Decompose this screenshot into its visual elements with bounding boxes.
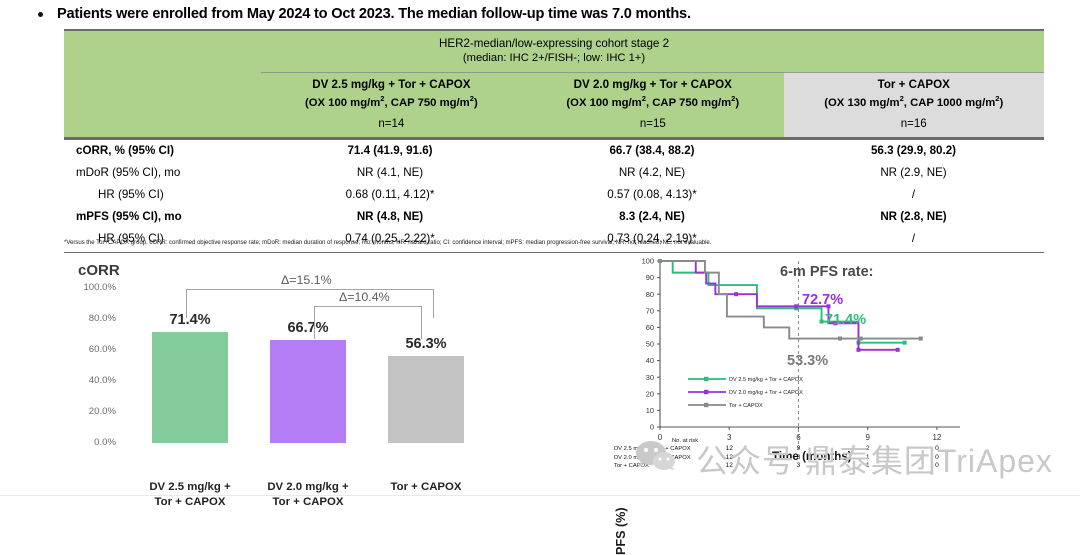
km-annotation: 6-m PFS rate:: [780, 264, 873, 280]
risk-table-title: No. at risk: [672, 438, 698, 444]
delta-bracket: [314, 306, 422, 339]
col-control-dose-suffix: ): [1000, 97, 1004, 109]
col-dv25-dose: (OX 100 mg/m2, CAP 750 mg/m2): [265, 92, 518, 110]
km-ytick-label: 80: [646, 290, 654, 299]
col-control-n: n=16: [788, 117, 1040, 131]
bar-category-label: Tor + CAPOX: [367, 480, 485, 495]
bar-ytick-label: 60.0%: [64, 344, 116, 355]
risk-value: 1: [861, 462, 875, 469]
col-dv25-dose-prefix: (OX 100 mg/m: [305, 97, 380, 109]
km-xtick-label: 9: [865, 433, 870, 442]
col-control-name: Tor + CAPOX: [788, 78, 1040, 92]
km-censor-marker: [896, 348, 900, 352]
row-label: cORR, % (95% CI): [64, 144, 259, 157]
row-value-dv20: 8.3 (2.4, NE): [521, 210, 783, 223]
km-x-axis-label: Time (months): [772, 450, 852, 463]
headline-bullet-row: Patients were enrolled from May 2024 to …: [38, 2, 1058, 26]
km-ytick-label: 50: [646, 340, 654, 349]
row-value-dv25: NR (4.8, NE): [259, 210, 521, 223]
column-header-blank: [64, 72, 261, 137]
risk-row-label: Tor + CAPOX: [614, 463, 649, 469]
col-dv25-name: DV 2.5 mg/kg + Tor + CAPOX: [265, 78, 518, 92]
bar-chart-title: cORR: [78, 262, 120, 279]
row-value-dv25: NR (4.1, NE): [259, 166, 521, 179]
row-label: mDoR (95% CI), mo: [64, 166, 259, 179]
km-ytick-label: 70: [646, 306, 654, 315]
risk-value: 15: [653, 454, 667, 461]
km-censor-marker: [820, 320, 824, 324]
col-dv20-name: DV 2.0 mg/kg + Tor + CAPOX: [526, 78, 779, 92]
row-value-control: NR (2.8, NE): [783, 210, 1044, 223]
bar-ytick-label: 100.0%: [64, 282, 116, 293]
table-row: mPFS (95% CI), mo NR (4.8, NE) 8.3 (2.4,…: [64, 206, 1044, 228]
km-ytick-label: 40: [646, 356, 654, 365]
cohort-header-line2: (median: IHC 2+/FISH-; low: IHC 1+): [64, 51, 1044, 65]
row-value-dv20: 0.57 (0.08, 4.13)*: [521, 188, 783, 201]
km-ytick-label: 60: [646, 323, 654, 332]
km-ytick-label: 30: [646, 373, 654, 382]
col-control-dose: (OX 130 mg/m2, CAP 1000 mg/m2): [788, 92, 1040, 110]
headline-text: Patients were enrolled from May 2024 to …: [57, 6, 691, 22]
km-ytick-label: 10: [646, 406, 654, 415]
km-ytick-label: 0: [650, 423, 654, 432]
col-dv20-dose-mid: , CAP 750 mg/m: [646, 97, 731, 109]
col-control-dose-prefix: (OX 130 mg/m: [824, 97, 899, 109]
table-bottom-rule: [64, 252, 1044, 254]
col-dv20-dose-suffix: ): [735, 97, 739, 109]
row-value-control: 56.3 (29.9, 80.2): [783, 144, 1044, 157]
risk-value: 16: [653, 462, 667, 469]
col-dv25-n: n=14: [265, 117, 518, 131]
risk-value: 1: [861, 454, 875, 461]
row-label: HR (95% CI): [64, 188, 259, 201]
km-censor-marker: [859, 337, 863, 341]
risk-value: 12: [722, 454, 736, 461]
row-value-dv25: 0.68 (0.11, 4.12)*: [259, 188, 521, 201]
km-annotation: 71.4%: [825, 312, 866, 328]
risk-value: 0: [930, 462, 944, 469]
table-row: cORR, % (95% CI) 71.4 (41.9, 91.6) 66.7 …: [64, 140, 1044, 162]
km-xtick-label: 3: [727, 433, 732, 442]
table-row: mDoR (95% CI), mo NR (4.1, NE) NR (4.2, …: [64, 162, 1044, 184]
km-xtick-label: 12: [932, 433, 941, 442]
cohort-header-line1: HER2-median/low-expressing cohort stage …: [64, 37, 1044, 51]
bar-ytick-label: 80.0%: [64, 313, 116, 324]
km-censor-marker: [838, 337, 842, 341]
column-header-dv20: DV 2.0 mg/kg + Tor + CAPOX (OX 100 mg/m2…: [522, 72, 783, 137]
table-row: HR (95% CI) 0.68 (0.11, 4.12)* 0.57 (0.0…: [64, 184, 1044, 206]
column-header-dv25: DV 2.5 mg/kg + Tor + CAPOX (OX 100 mg/m2…: [261, 72, 522, 137]
risk-value: 2: [861, 445, 875, 452]
col-dv20-dose: (OX 100 mg/m2, CAP 750 mg/m2): [526, 92, 779, 110]
corr-bar-chart: cORR 100.0%80.0%60.0%40.0%20.0%0.0% 71.4…: [34, 258, 484, 496]
km-xtick-label: 0: [658, 433, 663, 442]
km-censor-marker: [658, 259, 662, 263]
bar-ytick-label: 0.0%: [64, 437, 116, 448]
km-y-axis-label: PFS (%): [614, 507, 628, 555]
risk-value: 14: [653, 445, 667, 452]
row-label: mPFS (95% CI), mo: [64, 210, 259, 223]
km-censor-marker: [734, 292, 738, 296]
column-header-control: Tor + CAPOX (OX 130 mg/m2, CAP 1000 mg/m…: [784, 72, 1044, 137]
bar-rect: [270, 340, 346, 443]
risk-value: 12: [722, 445, 736, 452]
row-value-control: /: [783, 188, 1044, 201]
km-legend-label: DV 2.5 mg/kg + Tor + CAPOX: [729, 377, 803, 383]
bar-ytick-label: 40.0%: [64, 375, 116, 386]
risk-value: 3: [791, 462, 805, 469]
results-table: HER2-median/low-expressing cohort stage …: [64, 29, 1044, 253]
col-dv25-dose-mid: , CAP 750 mg/m: [385, 97, 470, 109]
km-censor-marker: [919, 337, 923, 341]
row-value-dv20: 66.7 (38.4, 88.2): [521, 144, 783, 157]
row-value-control: NR (2.9, NE): [783, 166, 1044, 179]
col-control-dose-mid: , CAP 1000 mg/m: [904, 97, 995, 109]
pfs-km-chart: PFS (%) 0102030405060708090100036912DV 2…: [612, 255, 1080, 496]
bar-rect: [152, 332, 228, 443]
bullet-point-icon: [38, 12, 43, 17]
table-footnote: *Versus the Tor+CAPOX group. cORR: confi…: [64, 238, 1054, 247]
km-censor-marker: [856, 348, 860, 352]
table-column-header-row: DV 2.5 mg/kg + Tor + CAPOX (OX 100 mg/m2…: [64, 72, 1044, 137]
km-annotation: 72.7%: [802, 292, 843, 308]
km-annotation: 53.3%: [787, 353, 828, 369]
risk-value: 9: [791, 445, 805, 452]
risk-value: 0: [930, 454, 944, 461]
risk-value: 12: [722, 462, 736, 469]
col-dv20-n: n=15: [526, 117, 779, 131]
km-legend-label: Tor + CAPOX: [729, 403, 763, 409]
km-legend-label: DV 2.0 mg/kg + Tor + CAPOX: [729, 390, 803, 396]
bar-rect: [388, 356, 464, 443]
km-ytick-label: 90: [646, 273, 654, 282]
row-value-dv20: NR (4.2, NE): [521, 166, 783, 179]
km-censor-marker: [794, 304, 798, 308]
risk-value: 8: [791, 454, 805, 461]
km-ytick-label: 20: [646, 389, 654, 398]
km-censor-marker: [903, 341, 907, 345]
row-value-dv25: 71.4 (41.9, 91.6): [259, 144, 521, 157]
table-cohort-header: HER2-median/low-expressing cohort stage …: [64, 31, 1044, 72]
col-dv25-dose-suffix: ): [474, 97, 478, 109]
delta-label: Δ=15.1%: [281, 273, 332, 287]
bar-ytick-label: 20.0%: [64, 406, 116, 417]
col-dv20-dose-prefix: (OX 100 mg/m: [566, 97, 641, 109]
delta-label: Δ=10.4%: [339, 290, 390, 304]
km-ytick-label: 100: [642, 257, 654, 266]
risk-value: 0: [930, 445, 944, 452]
